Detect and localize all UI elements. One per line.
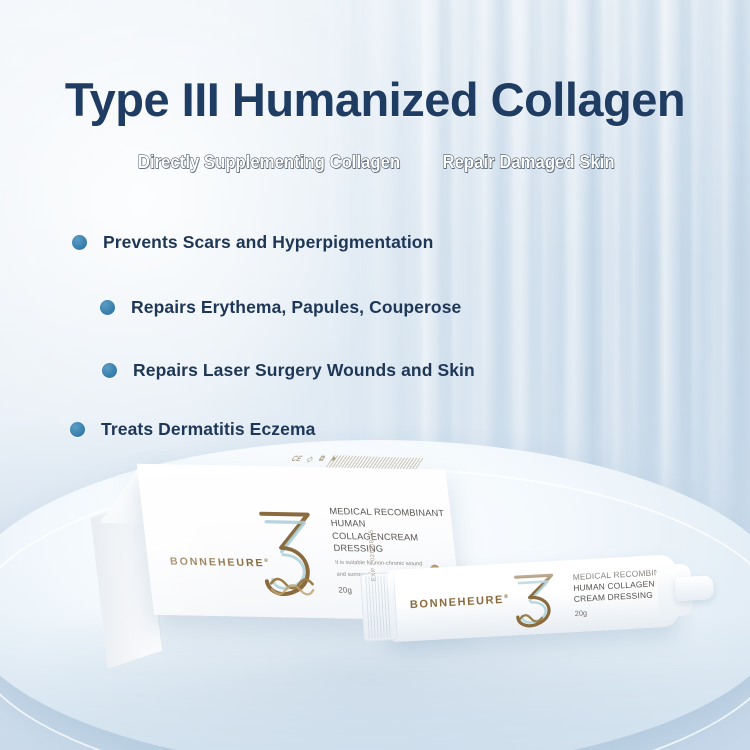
tube-nozzle-cap bbox=[675, 575, 714, 601]
tube-brand: BONNEHEURE® bbox=[410, 594, 509, 611]
tube-crimp-seal: EXP 2026.08.25 bbox=[360, 572, 398, 642]
bullet-dot-icon bbox=[102, 363, 117, 378]
cert-mark-icon: ⧉ bbox=[316, 455, 327, 464]
subtitle-left: Directly Supplementing Collagen bbox=[138, 152, 400, 173]
carton-logo-3-icon bbox=[246, 500, 332, 605]
carton-product-line-3: DRESSING bbox=[333, 542, 453, 557]
bullet-dot-icon bbox=[72, 235, 87, 250]
benefit-item: Treats Dermatitis Eczema bbox=[70, 419, 750, 440]
tube-logo-3-icon bbox=[504, 567, 565, 632]
tube-crimp-ridges bbox=[365, 575, 392, 638]
tube-brand-text: BONNEHEURE bbox=[410, 594, 505, 611]
carton-product-line-2: HUMAN COLLAGENCREAM bbox=[330, 517, 452, 544]
benefit-item: Prevents Scars and Hyperpigmentation bbox=[72, 232, 750, 253]
cert-mark-icon: ◇ bbox=[305, 455, 316, 464]
benefit-label: Repairs Erythema, Papules, Couperose bbox=[131, 297, 461, 318]
subtitle-right: Repair Damaged Skin bbox=[443, 152, 615, 173]
bullet-dot-icon bbox=[100, 300, 115, 315]
benefit-label: Repairs Laser Surgery Wounds and Skin bbox=[133, 360, 475, 381]
product-banner: Type III Humanized Collagen Directly Sup… bbox=[0, 0, 750, 750]
carton-brand-text: BONNEHEURE bbox=[169, 556, 265, 570]
page-title: Type III Humanized Collagen bbox=[0, 72, 750, 127]
benefit-label: Treats Dermatitis Eczema bbox=[101, 419, 315, 440]
ce-mark-icon: CE bbox=[289, 455, 303, 463]
bullet-dot-icon bbox=[70, 422, 85, 437]
subtitle-row: Directly Supplementing Collagen Repair D… bbox=[0, 152, 750, 173]
benefit-label: Prevents Scars and Hyperpigmentation bbox=[103, 232, 433, 253]
benefit-list: Prevents Scars and Hyperpigmentation Rep… bbox=[0, 232, 750, 440]
tube-body: BONNEHEURE® MEDICAL RECOMBINANT HUMAN CO… bbox=[386, 554, 680, 642]
benefit-item: Repairs Laser Surgery Wounds and Skin bbox=[102, 360, 750, 381]
benefit-item: Repairs Erythema, Papules, Couperose bbox=[100, 297, 750, 318]
